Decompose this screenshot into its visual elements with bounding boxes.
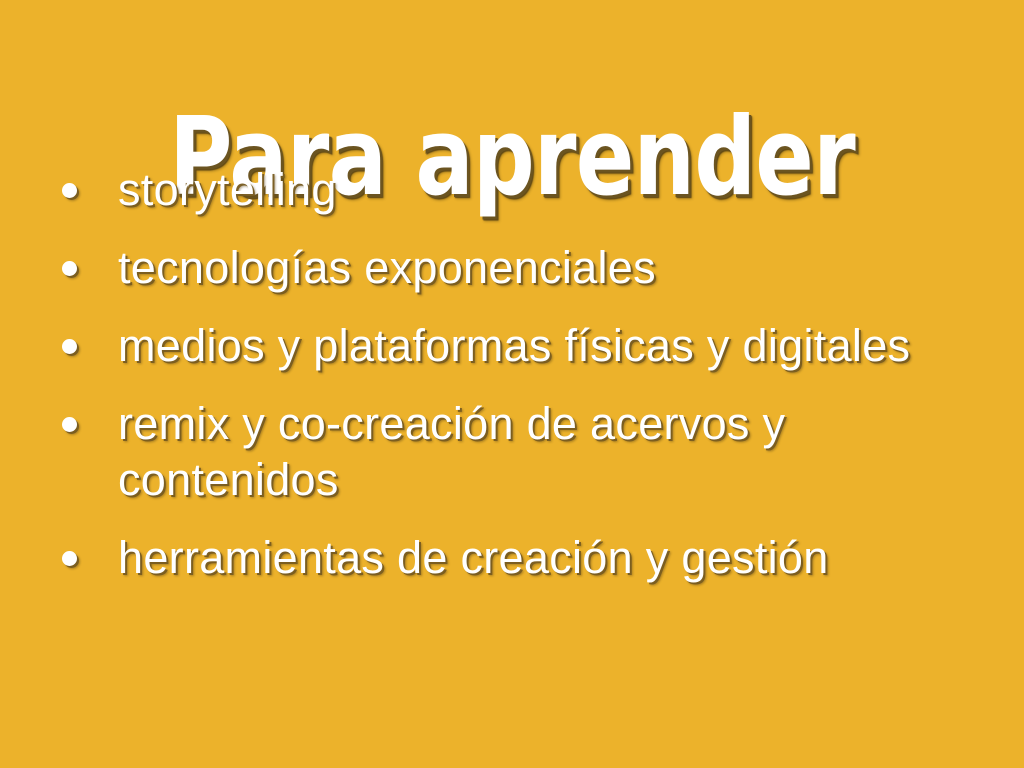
bullet-dot-icon <box>62 339 77 354</box>
bullet-list-item: storytelling <box>52 162 982 218</box>
bullet-dot-icon <box>62 551 77 566</box>
presentation-slide: Para aprender storytelling tecnologías e… <box>0 0 1024 768</box>
bullet-list: storytelling tecnologías exponenciales m… <box>52 162 982 586</box>
bullet-list-item-label: storytelling <box>118 162 982 218</box>
bullet-list-item: medios y plataformas físicas y digitales <box>52 318 982 374</box>
bullet-list-item-label: medios y plataformas físicas y digitales <box>118 318 982 374</box>
bullet-list-item: remix y co-creación de acervos y conteni… <box>52 396 982 508</box>
bullet-list-item-label: tecnologías exponenciales <box>118 240 982 296</box>
bullet-list-item: tecnologías exponenciales <box>52 240 982 296</box>
bullet-dot-icon <box>62 417 77 432</box>
bullet-dot-icon <box>62 261 77 276</box>
bullet-list-item-label: herramientas de creación y gestión <box>118 530 982 586</box>
bullet-list-item-label: remix y co-creación de acervos y conteni… <box>118 396 982 508</box>
bullet-dot-icon <box>62 183 77 198</box>
bullet-list-item: herramientas de creación y gestión <box>52 530 982 586</box>
